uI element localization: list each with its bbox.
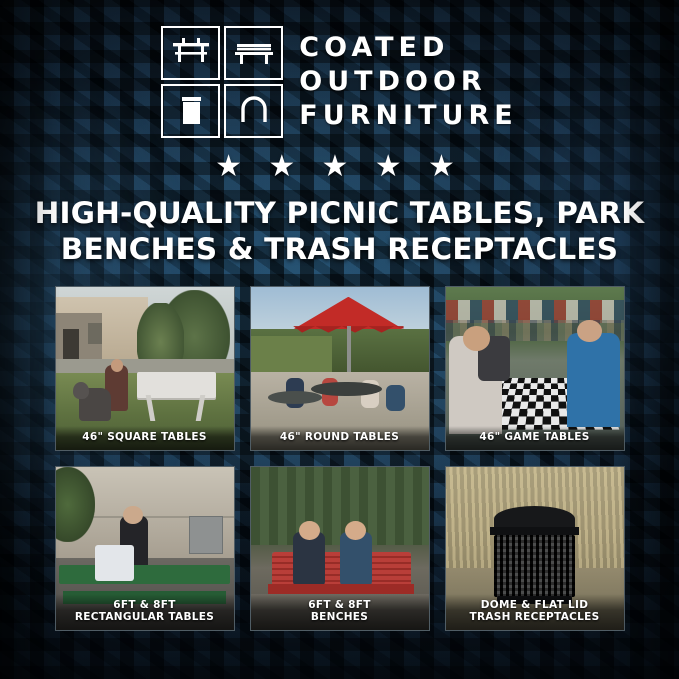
tile-caption: 6FT & 8FT RECTANGULAR TABLES [56, 594, 234, 630]
arch-bike-rack-icon [224, 84, 283, 138]
poster-content: COATED OUTDOOR FURNITURE ★ ★ ★ ★ ★ HIGH-… [0, 0, 679, 679]
tile-caption-line-2: RECTANGULAR TABLES [75, 611, 214, 623]
tile-caption: 46" SQUARE TABLES [56, 426, 234, 450]
tile-caption-line-2: BENCHES [311, 611, 368, 623]
page-title: HIGH-QUALITY PICNIC TABLES, PARK BENCHES… [0, 196, 679, 268]
wordmark-line-3: FURNITURE [299, 100, 517, 132]
tile-round-tables[interactable]: 46" ROUND TABLES [250, 286, 430, 451]
tile-benches[interactable]: 6FT & 8FT BENCHES [250, 466, 430, 631]
product-tile-grid: 46" SQUARE TABLES 46" ROUND TABLES [55, 286, 625, 631]
headline-line-2: BENCHES & TRASH RECEPTACLES [28, 232, 651, 268]
headline-line-1: HIGH-QUALITY PICNIC TABLES, PARK [28, 196, 651, 232]
logo-icon-grid [161, 26, 283, 138]
tile-caption-line-1: 6FT & 8FT [308, 599, 370, 611]
tile-trash-receptacles[interactable]: DOME & FLAT LID TRASH RECEPTACLES [445, 466, 625, 631]
trash-receptacle-icon [161, 84, 220, 138]
tile-caption: 46" ROUND TABLES [251, 426, 429, 450]
park-bench-icon [224, 26, 283, 80]
brand-logo: COATED OUTDOOR FURNITURE [0, 0, 679, 138]
brand-wordmark: COATED OUTDOOR FURNITURE [299, 32, 517, 132]
tile-caption-line-2: TRASH RECEPTACLES [470, 611, 600, 623]
tile-caption: DOME & FLAT LID TRASH RECEPTACLES [446, 594, 624, 630]
tile-caption-line-1: 6FT & 8FT [113, 599, 175, 611]
wordmark-line-1: COATED [299, 32, 517, 64]
tile-caption-line-1: DOME & FLAT LID [481, 599, 589, 611]
wordmark-line-2: OUTDOOR [299, 66, 517, 98]
picnic-table-icon [161, 26, 220, 80]
tile-square-tables[interactable]: 46" SQUARE TABLES [55, 286, 235, 451]
poster: COATED OUTDOOR FURNITURE ★ ★ ★ ★ ★ HIGH-… [0, 0, 679, 679]
tile-caption: 46" GAME TABLES [446, 426, 624, 450]
tile-game-tables[interactable]: 46" GAME TABLES [445, 286, 625, 451]
star-rating: ★ ★ ★ ★ ★ [0, 152, 679, 182]
tile-rectangular-tables[interactable]: 6FT & 8FT RECTANGULAR TABLES [55, 466, 235, 631]
tile-caption: 6FT & 8FT BENCHES [251, 594, 429, 630]
